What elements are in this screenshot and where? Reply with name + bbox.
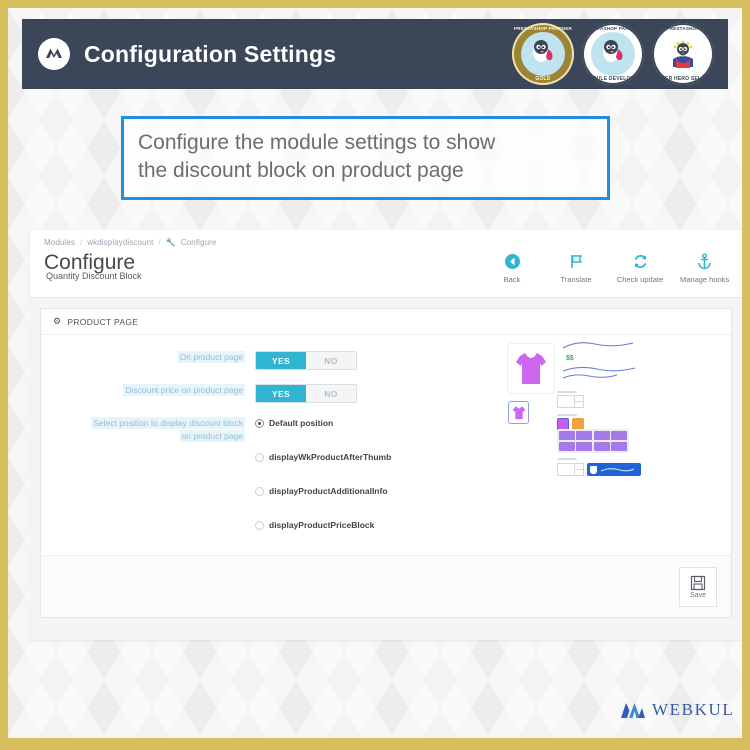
prestashop-mascot-icon bbox=[591, 32, 635, 76]
product-page-preview: $$ bbox=[461, 335, 641, 505]
badge-prestashop-gold: PRESTASHOP PARTNER GOLD bbox=[512, 23, 574, 85]
tshirt-thumbnail-icon[interactable] bbox=[508, 401, 529, 424]
tshirt-icon bbox=[507, 343, 555, 394]
toggle-yes-option[interactable]: YES bbox=[256, 385, 306, 402]
radio-label: displayWkProductAfterThumb bbox=[269, 452, 391, 462]
badge-top-text: PRESTASHOP PARTNER bbox=[512, 27, 574, 32]
size-select-box[interactable] bbox=[557, 395, 584, 408]
breadcrumb-item-module[interactable]: wkdisplaydiscount bbox=[87, 238, 153, 247]
gears-icon: ⚙ bbox=[53, 316, 61, 327]
panel-heading-label: PRODUCT PAGE bbox=[67, 317, 138, 327]
admin-header: Modules / wkdisplaydiscount / 🔧 Configur… bbox=[30, 230, 742, 298]
toggle-no-option[interactable]: NO bbox=[306, 352, 356, 369]
description-squiggle-icon bbox=[561, 365, 637, 383]
badge-super-hero-seller: P PRESTASHOP SUPER HERO SELLER bbox=[652, 23, 714, 85]
title-squiggle-icon bbox=[561, 339, 637, 353]
footer-brand-label: WEBKUL bbox=[652, 700, 734, 720]
panel-footer: Save bbox=[41, 555, 731, 617]
back-arrow-circle-icon bbox=[488, 250, 536, 272]
refresh-icon bbox=[616, 250, 664, 272]
floppy-disk-icon bbox=[690, 575, 706, 591]
attribute-label-line bbox=[557, 391, 577, 393]
toolbar-back-label: Back bbox=[488, 275, 536, 284]
field-label: Select position to display discount bloc… bbox=[53, 417, 255, 443]
radio-indicator[interactable] bbox=[255, 521, 264, 530]
quantity-label-line bbox=[557, 458, 577, 460]
callout-line-2: the discount block on product page bbox=[138, 157, 593, 185]
radio-display-product-price-block[interactable]: displayProductPriceBlock bbox=[255, 520, 391, 530]
badge-module-developer: PRESTASHOP PARTNER MODULE DEVELOPER bbox=[582, 23, 644, 85]
webkul-w-icon bbox=[620, 700, 646, 720]
toolbar-translate-button[interactable]: Translate bbox=[552, 250, 600, 284]
field-label: On product page bbox=[53, 351, 255, 364]
quantity-stepper[interactable] bbox=[557, 463, 584, 476]
breadcrumb-separator: / bbox=[158, 238, 160, 247]
toolbar-check-update-label: Check update bbox=[616, 275, 664, 284]
page-title: Configuration Settings bbox=[84, 41, 336, 68]
toolbar-check-update-button[interactable]: Check update bbox=[616, 250, 664, 284]
partner-badges: PRESTASHOP PARTNER GOLD PRESTASHOP PARTN… bbox=[512, 23, 714, 85]
field-label: Discount price on product page bbox=[53, 384, 255, 397]
field-select-position: Select position to display discount bloc… bbox=[53, 417, 719, 530]
radio-label: Default position bbox=[269, 418, 333, 428]
wrench-icon: 🔧 bbox=[166, 238, 176, 247]
radio-indicator[interactable] bbox=[255, 453, 264, 462]
toolbar-manage-hooks-button[interactable]: Manage hooks bbox=[680, 250, 728, 284]
breadcrumb-separator: / bbox=[80, 238, 82, 247]
preview-price-label: $$ bbox=[566, 355, 574, 362]
callout-line-1: Configure the module settings to show bbox=[138, 129, 593, 157]
product-page-panel: ⚙ PRODUCT PAGE On product page YES NO Di… bbox=[40, 308, 732, 618]
toolbar-translate-label: Translate bbox=[552, 275, 600, 284]
badge-top-text: PRESTASHOP bbox=[652, 27, 714, 32]
footer-brand: WEBKUL bbox=[620, 700, 734, 720]
position-radio-group: Default position displayWkProductAfterTh… bbox=[255, 417, 391, 530]
page-stage: Configuration Settings PRESTASHOP PARTNE… bbox=[8, 8, 742, 738]
header-bar: Configuration Settings PRESTASHOP PARTNE… bbox=[22, 19, 728, 89]
breadcrumb: Modules / wkdisplaydiscount / 🔧 Configur… bbox=[44, 238, 216, 247]
admin-toolbar: Back Translate bbox=[488, 238, 728, 284]
flag-icon bbox=[552, 250, 600, 272]
badge-bottom-text: MODULE DEVELOPER bbox=[582, 77, 644, 82]
badge-bottom-text: GOLD bbox=[512, 77, 574, 82]
panel-body: On product page YES NO Discount price on… bbox=[41, 335, 731, 555]
radio-label: displayProductAdditionalInfo bbox=[269, 486, 388, 496]
shopping-cart-icon bbox=[590, 466, 597, 474]
radio-default-position[interactable]: Default position bbox=[255, 418, 391, 428]
badge-bottom-text: SUPER HERO SELLER bbox=[652, 77, 714, 82]
radio-indicator[interactable] bbox=[255, 487, 264, 496]
breadcrumb-item-configure[interactable]: Configure bbox=[181, 238, 217, 247]
discount-block-grid bbox=[557, 429, 629, 453]
breadcrumb-item-modules[interactable]: Modules bbox=[44, 238, 75, 247]
add-to-cart-button[interactable] bbox=[587, 463, 641, 476]
admin-page-subtitle: Quantity Discount Block bbox=[46, 271, 216, 281]
anchor-icon bbox=[680, 250, 728, 272]
panel-header: ⚙ PRODUCT PAGE bbox=[41, 309, 731, 335]
radio-label: displayProductPriceBlock bbox=[269, 520, 374, 530]
toggle-on-product-page[interactable]: YES NO bbox=[255, 351, 357, 370]
radio-display-wk-product-after-thumb[interactable]: displayWkProductAfterThumb bbox=[255, 452, 391, 462]
toolbar-manage-hooks-label: Manage hooks bbox=[680, 275, 728, 284]
radio-display-product-additional-info[interactable]: displayProductAdditionalInfo bbox=[255, 486, 391, 496]
prestashop-mascot-icon bbox=[521, 32, 565, 76]
admin-screenshot: Modules / wkdisplaydiscount / 🔧 Configur… bbox=[30, 230, 742, 640]
toggle-no-option[interactable]: NO bbox=[306, 385, 356, 402]
save-button-label: Save bbox=[690, 592, 706, 599]
callout-box: Configure the module settings to show th… bbox=[121, 116, 610, 200]
color-label-line bbox=[557, 414, 577, 416]
gold-frame: Configuration Settings PRESTASHOP PARTNE… bbox=[0, 0, 750, 750]
toolbar-back-button[interactable]: Back bbox=[488, 250, 536, 284]
radio-indicator[interactable] bbox=[255, 419, 264, 428]
save-button[interactable]: Save bbox=[679, 567, 717, 607]
toggle-yes-option[interactable]: YES bbox=[256, 352, 306, 369]
superhero-mascot-icon: P bbox=[661, 32, 705, 76]
webkul-logo-icon bbox=[38, 38, 70, 70]
badge-top-text: PRESTASHOP PARTNER bbox=[582, 27, 644, 32]
toggle-discount-price[interactable]: YES NO bbox=[255, 384, 357, 403]
